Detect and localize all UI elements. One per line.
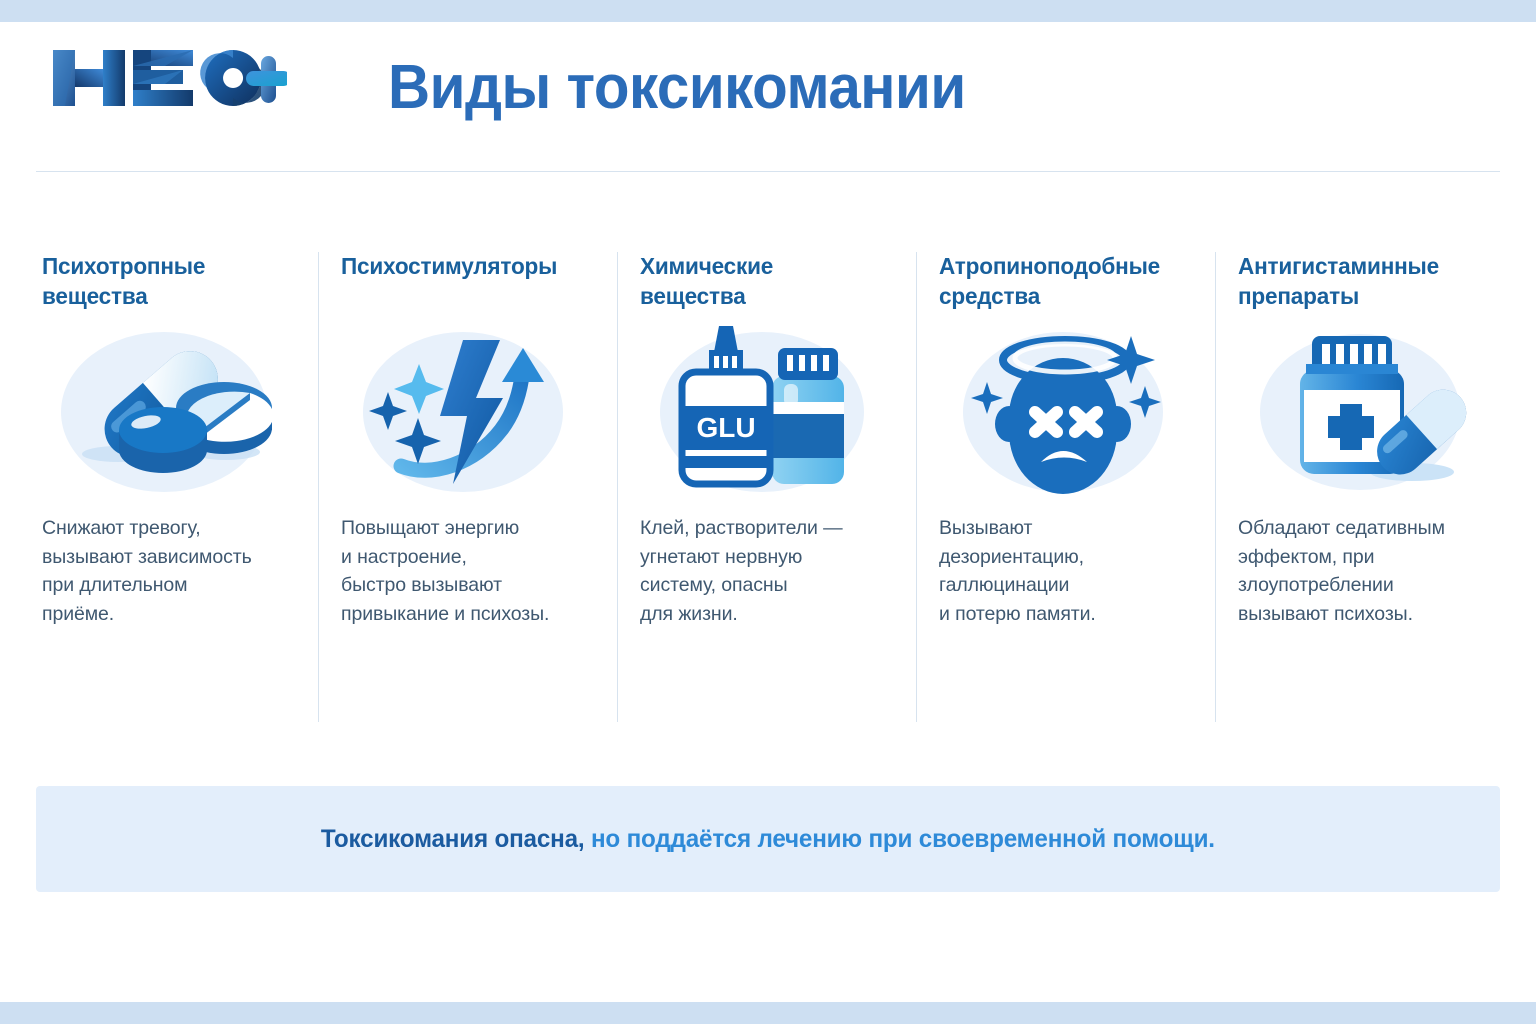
header: Виды токсикомании (0, 0, 1536, 171)
column-title: Психотропные вещества (42, 252, 286, 314)
column-title: Антигистаминные препараты (1238, 252, 1482, 314)
infographic-page: Виды токсикомании Психотропные вещества (0, 0, 1536, 1024)
column-description: Повыщают энергию и настроение, быстро вы… (341, 514, 595, 629)
page-title: Виды токсикомании (388, 52, 966, 123)
column-icon (1238, 324, 1492, 500)
neo-plus-logo (47, 42, 287, 114)
category-column-psychotropic: Психотропные вещества (36, 252, 318, 722)
glue-label: GLU (696, 412, 755, 443)
column-title: Атропиноподобные средства (939, 252, 1183, 314)
column-description: Вызывают дезориентацию, галлюцинации и п… (939, 514, 1193, 629)
category-column-chemicals: Химические вещества (617, 252, 916, 722)
category-column-stimulants: Психостимуляторы (318, 252, 617, 722)
column-icon (42, 324, 296, 500)
category-columns: Психотропные вещества (36, 252, 1500, 722)
header-divider (36, 171, 1500, 172)
column-icon (341, 324, 595, 500)
medicine-bottle-cross-capsule-icon (1242, 324, 1492, 500)
column-icon (939, 324, 1193, 500)
column-title: Химические вещества (640, 252, 884, 314)
lightning-bolt-arrow-up-sparkles-icon (345, 326, 595, 498)
banner-rest-text: но поддаётся лечению при своевременной п… (585, 825, 1215, 853)
category-column-atropine: Атропиноподобные средства (916, 252, 1215, 722)
glue-bottle-solvent-icon: GLU (644, 324, 894, 500)
banner-text: Токсикомания опасна, но поддаётся лечени… (321, 825, 1215, 854)
column-title: Психостимуляторы (341, 252, 585, 314)
column-icon: GLU (640, 324, 894, 500)
column-description: Снижают тревогу, вызывают зависимость пр… (42, 514, 296, 629)
column-description: Обладают седативным эффектом, при злоупо… (1238, 514, 1492, 629)
dizzy-face-halo-sparkles-icon (943, 324, 1193, 500)
bottom-banner: Токсикомания опасна, но поддаётся лечени… (36, 786, 1500, 892)
category-column-antihistamines: Антигистаминные препараты (1215, 252, 1514, 722)
pills-capsule-tablets-icon (46, 326, 296, 498)
banner-strong-text: Токсикомания опасна, (321, 825, 585, 853)
column-description: Клей, растворители — угнетают нервную си… (640, 514, 894, 629)
